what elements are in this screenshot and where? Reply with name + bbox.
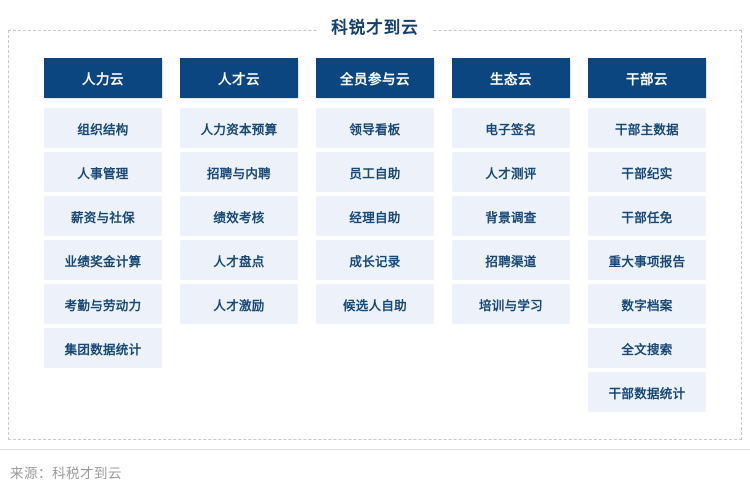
- matrix-cell[interactable]: 员工自助: [316, 152, 434, 192]
- matrix-cell[interactable]: 人才测评: [452, 152, 570, 192]
- column-header-cadre-cloud[interactable]: 干部云: [588, 58, 706, 98]
- matrix-column-human-resource-cloud: 人力云 组织结构 人事管理 薪资与社保 业绩奖金计算 考勤与劳动力 集团数据统计: [44, 58, 162, 416]
- column-header-ecosystem-cloud[interactable]: 生态云: [452, 58, 570, 98]
- matrix-cell[interactable]: 电子签名: [452, 108, 570, 148]
- matrix-cell[interactable]: 人才激励: [180, 284, 298, 324]
- cell-list-all-staff-participation-cloud: 领导看板 员工自助 经理自助 成长记录 候选人自助: [316, 108, 434, 328]
- column-header-human-resource-cloud[interactable]: 人力云: [44, 58, 162, 98]
- matrix-cell[interactable]: 招聘渠道: [452, 240, 570, 280]
- matrix-cell[interactable]: 人事管理: [44, 152, 162, 192]
- column-header-talent-cloud[interactable]: 人才云: [180, 58, 298, 98]
- cell-list-ecosystem-cloud: 电子签名 人才测评 背景调查 招聘渠道 培训与学习: [452, 108, 570, 328]
- matrix-cell[interactable]: 薪资与社保: [44, 196, 162, 236]
- matrix-cell[interactable]: 领导看板: [316, 108, 434, 148]
- matrix-cell[interactable]: 考勤与劳动力: [44, 284, 162, 324]
- matrix-cell[interactable]: 全文搜索: [588, 328, 706, 368]
- page-title: 科锐才到云: [0, 16, 750, 40]
- matrix-cell[interactable]: 成长记录: [316, 240, 434, 280]
- matrix-cell[interactable]: 干部主数据: [588, 108, 706, 148]
- source-note: 来源：科税才到云: [10, 462, 122, 482]
- footer-divider: [0, 449, 750, 450]
- matrix-cell[interactable]: 人力资本预算: [180, 108, 298, 148]
- matrix-column-ecosystem-cloud: 生态云 电子签名 人才测评 背景调查 招聘渠道 培训与学习: [452, 58, 570, 416]
- matrix-cell[interactable]: 数字档案: [588, 284, 706, 324]
- matrix-cell[interactable]: 绩效考核: [180, 196, 298, 236]
- matrix-cell[interactable]: 培训与学习: [452, 284, 570, 324]
- matrix-cell[interactable]: 干部数据统计: [588, 372, 706, 412]
- cell-list-talent-cloud: 人力资本预算 招聘与内聘 绩效考核 人才盘点 人才激励: [180, 108, 298, 328]
- product-module-matrix: 人力云 组织结构 人事管理 薪资与社保 业绩奖金计算 考勤与劳动力 集团数据统计…: [44, 58, 706, 416]
- matrix-column-all-staff-participation-cloud: 全员参与云 领导看板 员工自助 经理自助 成长记录 候选人自助: [316, 58, 434, 416]
- matrix-column-cadre-cloud: 干部云 干部主数据 干部纪实 干部任免 重大事项报告 数字档案 全文搜索 干部数…: [588, 58, 706, 416]
- cell-list-cadre-cloud: 干部主数据 干部纪实 干部任免 重大事项报告 数字档案 全文搜索 干部数据统计: [588, 108, 706, 416]
- matrix-cell[interactable]: 组织结构: [44, 108, 162, 148]
- matrix-cell[interactable]: 集团数据统计: [44, 328, 162, 368]
- matrix-cell[interactable]: 重大事项报告: [588, 240, 706, 280]
- cell-list-human-resource-cloud: 组织结构 人事管理 薪资与社保 业绩奖金计算 考勤与劳动力 集团数据统计: [44, 108, 162, 372]
- matrix-cell[interactable]: 招聘与内聘: [180, 152, 298, 192]
- matrix-cell[interactable]: 人才盘点: [180, 240, 298, 280]
- matrix-column-talent-cloud: 人才云 人力资本预算 招聘与内聘 绩效考核 人才盘点 人才激励: [180, 58, 298, 416]
- matrix-cell[interactable]: 干部纪实: [588, 152, 706, 192]
- matrix-cell[interactable]: 候选人自助: [316, 284, 434, 324]
- matrix-cell[interactable]: 背景调查: [452, 196, 570, 236]
- column-header-all-staff-participation-cloud[interactable]: 全员参与云: [316, 58, 434, 98]
- matrix-cell[interactable]: 经理自助: [316, 196, 434, 236]
- matrix-cell[interactable]: 业绩奖金计算: [44, 240, 162, 280]
- page-title-text: 科锐才到云: [317, 16, 433, 40]
- matrix-cell[interactable]: 干部任免: [588, 196, 706, 236]
